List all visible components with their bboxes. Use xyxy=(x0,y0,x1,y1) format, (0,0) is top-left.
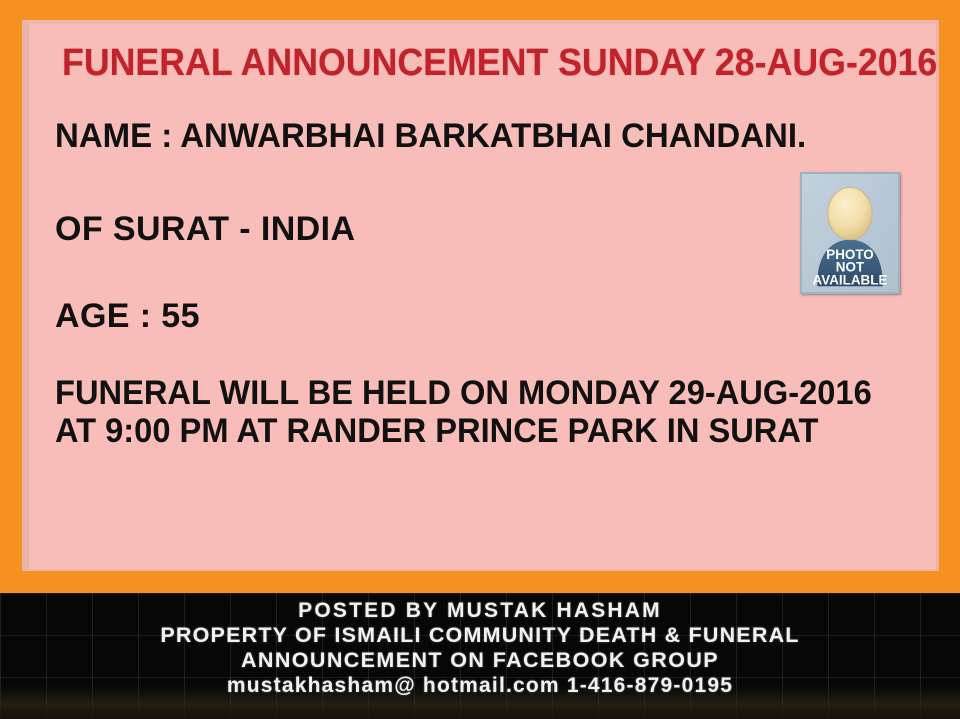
funeral-details-line-2: AT 9:00 PM AT RANDER PRINCE PARK IN SURA… xyxy=(55,412,872,450)
funeral-details: FUNERAL WILL BE HELD ON MONDAY 29-AUG-20… xyxy=(55,374,872,450)
footer-line-contact: mustakhasham@ hotmail.com 1-416-879-0195 xyxy=(0,673,960,698)
funeral-announcement-poster: FUNERAL ANNOUNCEMENT SUNDAY 28-AUG-2016 … xyxy=(0,0,960,719)
deceased-origin-line: OF SURAT - INDIA xyxy=(55,209,355,249)
orange-divider-band xyxy=(0,571,960,593)
footer-credit-text: POSTED BY MUSTAK HASHAM PROPERTY OF ISMA… xyxy=(0,598,960,698)
poster-footer: POSTED BY MUSTAK HASHAM PROPERTY OF ISMA… xyxy=(0,593,960,719)
deceased-age-line: AGE : 55 xyxy=(55,296,200,336)
photo-label-line-3: AVAILABLE xyxy=(813,272,888,287)
footer-line-posted-by: POSTED BY MUSTAK HASHAM xyxy=(0,598,960,623)
announcement-card-content: FUNERAL ANNOUNCEMENT SUNDAY 28-AUG-2016 … xyxy=(29,24,936,569)
person-silhouette-icon: PHOTO NOT AVAILABLE xyxy=(802,174,898,292)
announcement-card: FUNERAL ANNOUNCEMENT SUNDAY 28-AUG-2016 … xyxy=(22,20,939,571)
funeral-details-line-1: FUNERAL WILL BE HELD ON MONDAY 29-AUG-20… xyxy=(55,374,872,412)
announcement-title: FUNERAL ANNOUNCEMENT SUNDAY 28-AUG-2016 xyxy=(62,41,937,85)
deceased-name-line: NAME : ANWARBHAI BARKATBHAI CHANDANI. xyxy=(55,116,806,156)
photo-not-available-badge: PHOTO NOT AVAILABLE xyxy=(800,172,900,294)
footer-line-property: PROPERTY OF ISMAILI COMMUNITY DEATH & FU… xyxy=(0,623,960,648)
footer-line-group: ANNOUNCEMENT ON FACEBOOK GROUP xyxy=(0,648,960,673)
